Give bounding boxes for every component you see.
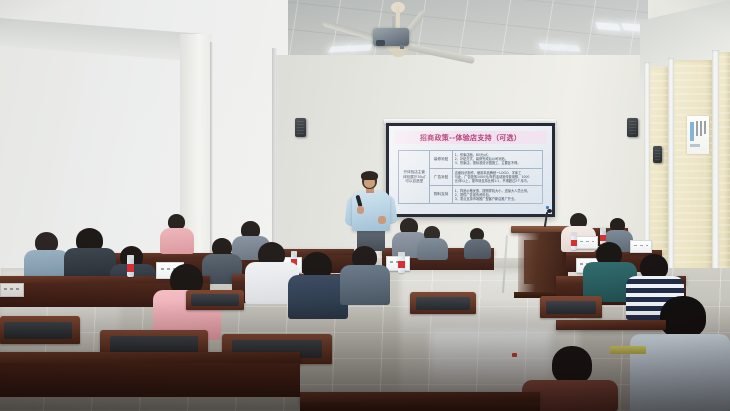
- slide-left-header-text: 开体验店主营 体验展厅30㎡ 可以自选型: [403, 170, 426, 183]
- conference-room-photo: 招商政策--体验店支持（可选） 开体验店主营 体验展厅30㎡ 可以自选型 装修补…: [0, 0, 730, 411]
- slide-row-body: 1、形象店面，80元/㎡。 2、补贴方式，装修完成后公司补贴。 3、形象店，按标…: [453, 151, 542, 168]
- water-bottle: [127, 255, 134, 277]
- wall-speaker-icon: [627, 118, 638, 137]
- projection-screen: 招商政策--体验店支持（可选） 开体验店主营 体验展厅30㎡ 可以自选型 装修补…: [389, 126, 552, 214]
- wall-notice-poster: [687, 116, 709, 154]
- name-placard: [576, 236, 598, 249]
- blind-slats: [650, 66, 668, 278]
- presenter-hand-left: [357, 206, 364, 214]
- desk-front-panel: [300, 402, 540, 411]
- slide-row-label: 装修补贴: [430, 151, 452, 168]
- projector-lens-icon: [376, 40, 385, 46]
- slide-row-label: 物料支持: [430, 186, 452, 203]
- slide-table-rows: 装修补贴 1、形象店面，80元/㎡。 2、补贴方式，装修完成后公司补贴。 3、形…: [430, 151, 542, 203]
- window-blind[interactable]: [650, 66, 668, 278]
- desk-front-panel: [0, 363, 300, 397]
- desk: [556, 320, 666, 330]
- name-placard: [0, 283, 24, 297]
- slide-row-line: 元/年以上，按市场支持比例1:1，不得超过2个月内。: [455, 179, 540, 183]
- fan-cap: [392, 50, 405, 57]
- slide-table: 开体验店主营 体验展厅30㎡ 可以自选型 装修补贴 1、形象店面，80元/㎡。 …: [398, 150, 543, 204]
- floor-object: [512, 353, 517, 357]
- projector-foot: [400, 45, 404, 49]
- slide-row-line: 3、形象店，按标准设计图施工、主要区不得。: [455, 161, 540, 165]
- slide-row-line: 3、重点支持市场推广型客户新店推广开业。: [455, 197, 540, 201]
- presenter-hand-right: [378, 216, 386, 224]
- slide-table-row: 物料支持 1、样品价格优惠，按照样机大小，送最大人员比例。 2、提供广告宣传资料…: [430, 186, 542, 203]
- slide-table-row: 装修补贴 1、形象店面，80元/㎡。 2、补贴方式，装修完成后公司补贴。 3、形…: [430, 151, 542, 169]
- slide-row-label-text: 广告补贴: [434, 175, 448, 179]
- window-blind[interactable]: [719, 52, 730, 282]
- slide-row-label-text: 装修补贴: [434, 157, 448, 161]
- slide-row-body: 店面标识制作、使用本品牌统一LOGO、字体工 与此、广告投放1000元/年的活动…: [453, 169, 542, 186]
- slide-title: 招商政策--体验店支持（可选）: [420, 133, 521, 143]
- blind-slats: [719, 52, 730, 282]
- slide-row-label: 广告补贴: [430, 169, 452, 186]
- presenter-hair: [361, 171, 378, 180]
- desk-document: [610, 346, 646, 354]
- water-bottle: [571, 232, 577, 250]
- wall-speaker-icon: [295, 118, 306, 137]
- wall-speaker-icon: [653, 146, 662, 163]
- slide-table-row: 广告补贴 店面标识制作、使用本品牌统一LOGO、字体工 与此、广告投放1000元…: [430, 169, 542, 187]
- water-bottle: [398, 252, 405, 273]
- slide-row-body: 1、样品价格优惠，按照样机大小，送最大人员比例。 2、提供广告宣传资料包。 3、…: [453, 186, 542, 203]
- slide-table-left-header: 开体验店主营 体验展厅30㎡ 可以自选型: [399, 151, 430, 203]
- blind-slats: [674, 60, 712, 284]
- window-blind[interactable]: [674, 60, 712, 284]
- slide-row-label-text: 物料支持: [434, 192, 448, 196]
- name-placard: [630, 240, 652, 253]
- podium-microphone-icon[interactable]: [547, 209, 552, 213]
- slide-title-bar: 招商政策--体验店支持（可选）: [394, 131, 547, 144]
